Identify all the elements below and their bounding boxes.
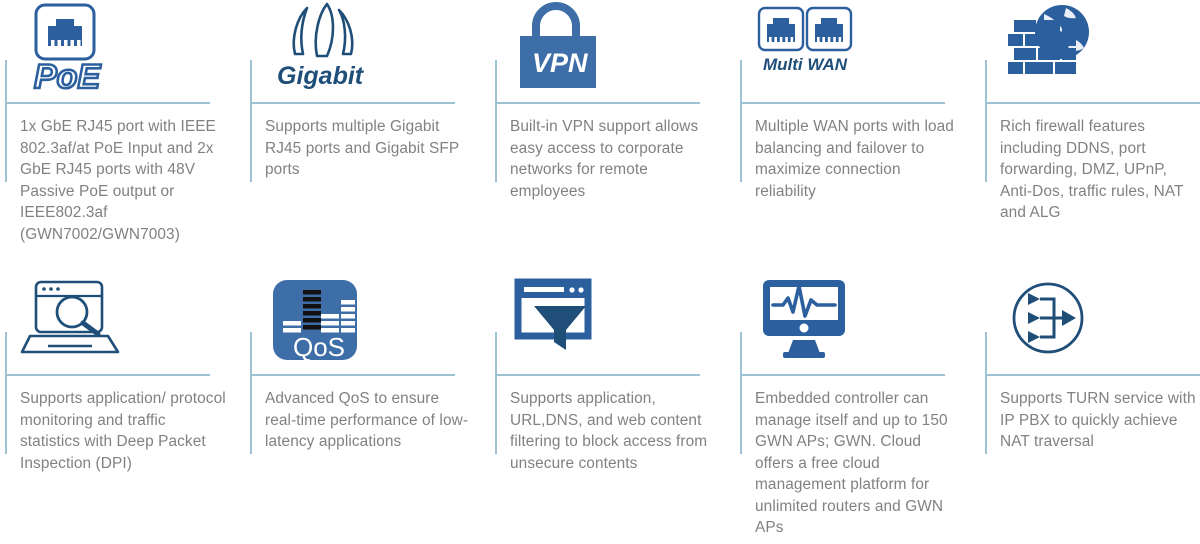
svg-text:PoE: PoE <box>34 58 101 94</box>
cell-horizontal-rule <box>740 102 945 104</box>
feature-cell-gigabit: Gigabit Supports multiple Gigabit RJ45 p… <box>245 0 490 272</box>
qos-equalizer-icon: QoS <box>265 274 365 366</box>
browser-funnel-filter-icon <box>510 274 620 366</box>
dpi-icon-wrap <box>20 272 220 368</box>
feature-cell-poe: PoE 1x GbE RJ45 port with IEEE 802.3af/a… <box>0 0 245 272</box>
cell-vertical-rule <box>250 332 252 454</box>
svg-text:QoS: QoS <box>293 332 345 362</box>
cell-vertical-rule <box>495 60 497 182</box>
content-filter-icon-wrap <box>510 272 710 368</box>
cell-vertical-rule <box>495 332 497 454</box>
cell-vertical-rule <box>5 60 7 182</box>
feature-description: Embedded controller can manage itself an… <box>755 388 961 539</box>
feature-cell-vpn: VPN Built-in VPN support allows easy acc… <box>490 0 735 272</box>
cell-horizontal-rule <box>495 102 700 104</box>
cell-vertical-rule <box>740 332 742 454</box>
feature-description: Supports TURN service with IP PBX to qui… <box>1000 388 1200 453</box>
laptop-magnifier-icon <box>20 274 130 366</box>
feature-description: Supports multiple Gigabit RJ45 ports and… <box>265 116 471 181</box>
feature-grid: PoE 1x GbE RJ45 port with IEEE 802.3af/a… <box>0 0 1200 544</box>
vpn-icon-wrap: VPN <box>510 0 710 96</box>
feature-cell-turn-nat: Supports TURN service with IP PBX to qui… <box>980 272 1200 544</box>
cell-horizontal-rule <box>495 374 700 376</box>
svg-text:Multi WAN: Multi WAN <box>763 55 848 74</box>
cell-vertical-rule <box>5 332 7 454</box>
cell-horizontal-rule <box>740 374 945 376</box>
nat-traversal-arrows-icon <box>1000 274 1100 366</box>
feature-cell-dpi: Supports application/ protocol monitorin… <box>0 272 245 544</box>
controller-icon-wrap <box>755 272 955 368</box>
poe-rj45-icon: PoE <box>20 2 120 94</box>
feature-row-2: Supports application/ protocol monitorin… <box>0 272 1200 544</box>
feature-description: Supports application, URL,DNS, and web c… <box>510 388 716 474</box>
feature-description: Multiple WAN ports with load balancing a… <box>755 116 961 202</box>
gigabit-icon-wrap: Gigabit <box>265 0 465 96</box>
poe-icon-wrap: PoE <box>20 0 220 96</box>
feature-cell-multi-wan: Multi WAN Multiple WAN ports with load b… <box>735 0 980 272</box>
feature-cell-firewall: Rich firewall features including DDNS, p… <box>980 0 1200 272</box>
multi-wan-icon-wrap: Multi WAN <box>755 0 955 96</box>
cell-horizontal-rule <box>985 102 1200 104</box>
cell-horizontal-rule <box>985 374 1200 376</box>
cell-horizontal-rule <box>250 374 455 376</box>
cell-vertical-rule <box>985 332 987 454</box>
feature-cell-qos: QoS Advanced QoS to ensure real-time per… <box>245 272 490 544</box>
cell-vertical-rule <box>250 60 252 182</box>
multi-wan-ports-icon: Multi WAN <box>755 2 865 94</box>
monitor-pulse-icon <box>755 274 865 366</box>
feature-cell-controller: Embedded controller can manage itself an… <box>735 272 980 544</box>
svg-text:Gigabit: Gigabit <box>277 62 365 90</box>
svg-text:VPN: VPN <box>532 48 588 78</box>
cell-vertical-rule <box>740 60 742 182</box>
firewall-brickwall-globe-icon <box>1000 2 1110 94</box>
cell-vertical-rule <box>985 60 987 182</box>
feature-description: Supports application/ protocol monitorin… <box>20 388 226 474</box>
feature-row-1: PoE 1x GbE RJ45 port with IEEE 802.3af/a… <box>0 0 1200 272</box>
cell-horizontal-rule <box>5 374 210 376</box>
cell-horizontal-rule <box>5 102 210 104</box>
feature-description: 1x GbE RJ45 port with IEEE 802.3af/at Po… <box>20 116 226 245</box>
gigabit-speed-icon: Gigabit <box>265 2 385 94</box>
nat-icon-wrap <box>1000 272 1200 368</box>
vpn-padlock-icon: VPN <box>510 2 610 94</box>
firewall-icon-wrap <box>1000 0 1200 96</box>
qos-icon-wrap: QoS <box>265 272 465 368</box>
feature-description: Advanced QoS to ensure real-time perform… <box>265 388 471 453</box>
feature-description: Rich firewall features including DDNS, p… <box>1000 116 1200 224</box>
feature-description: Built-in VPN support allows easy access … <box>510 116 716 202</box>
feature-cell-content-filtering: Supports application, URL,DNS, and web c… <box>490 272 735 544</box>
cell-horizontal-rule <box>250 102 455 104</box>
